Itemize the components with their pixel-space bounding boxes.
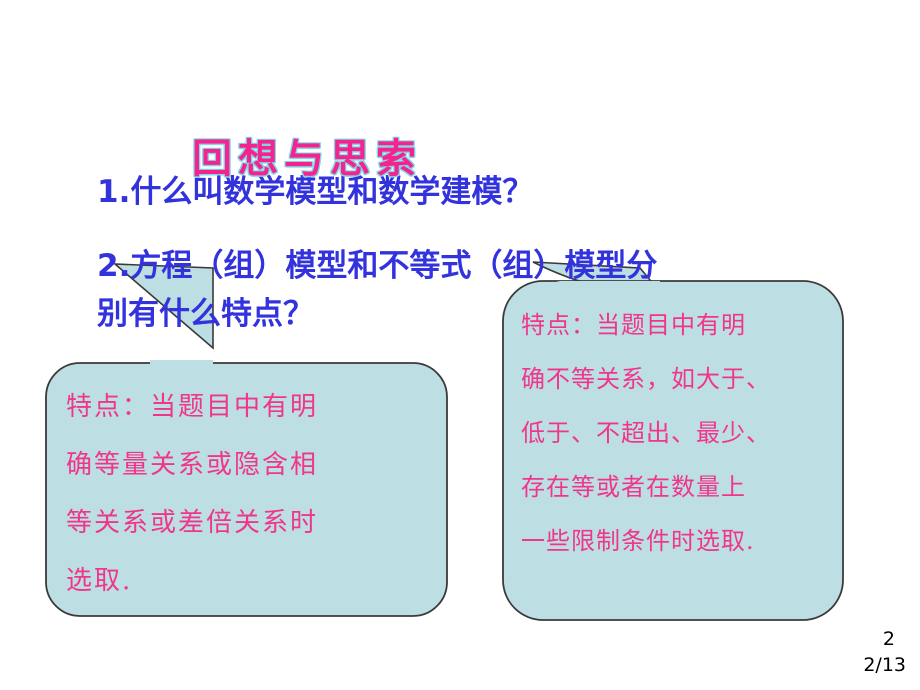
callout-left-text: 特点：当题目中有明 确等量关系或隐含相 等关系或差倍关系时 选取. bbox=[66, 378, 436, 610]
slide-number: 2 bbox=[883, 628, 895, 650]
callout-left-line: 确等量关系或隐含相 bbox=[66, 436, 436, 494]
callout-left-line: 等关系或差倍关系时 bbox=[66, 494, 436, 552]
page-title: 回想与思索 bbox=[192, 126, 422, 184]
callout-left-line: 特点：当题目中有明 bbox=[66, 378, 436, 436]
page-counter: 2/13 bbox=[863, 654, 906, 676]
callout-right-text: 特点：当题目中有明 确不等关系，如大于、 低于、不超出、最少、 存在等或者在数量… bbox=[521, 298, 831, 568]
question-item-2-line-1: 2.方程（组）模型和不等式（组）模型分 bbox=[97, 242, 897, 290]
slide-canvas: 回想与思索 1.什么叫数学模型和数学建模？ 2.方程（组）模型和不等式（组）模型… bbox=[0, 0, 920, 690]
callout-right-line: 存在等或者在数量上 bbox=[521, 460, 831, 514]
callout-left-line: 选取. bbox=[66, 552, 436, 610]
callout-right-line: 低于、不超出、最少、 bbox=[521, 406, 831, 460]
callout-right-line: 特点：当题目中有明 bbox=[521, 298, 831, 352]
callout-right-line: 一些限制条件时选取. bbox=[521, 514, 831, 568]
callout-left-tail-join bbox=[150, 360, 213, 370]
callout-right-line: 确不等关系，如大于、 bbox=[521, 352, 831, 406]
